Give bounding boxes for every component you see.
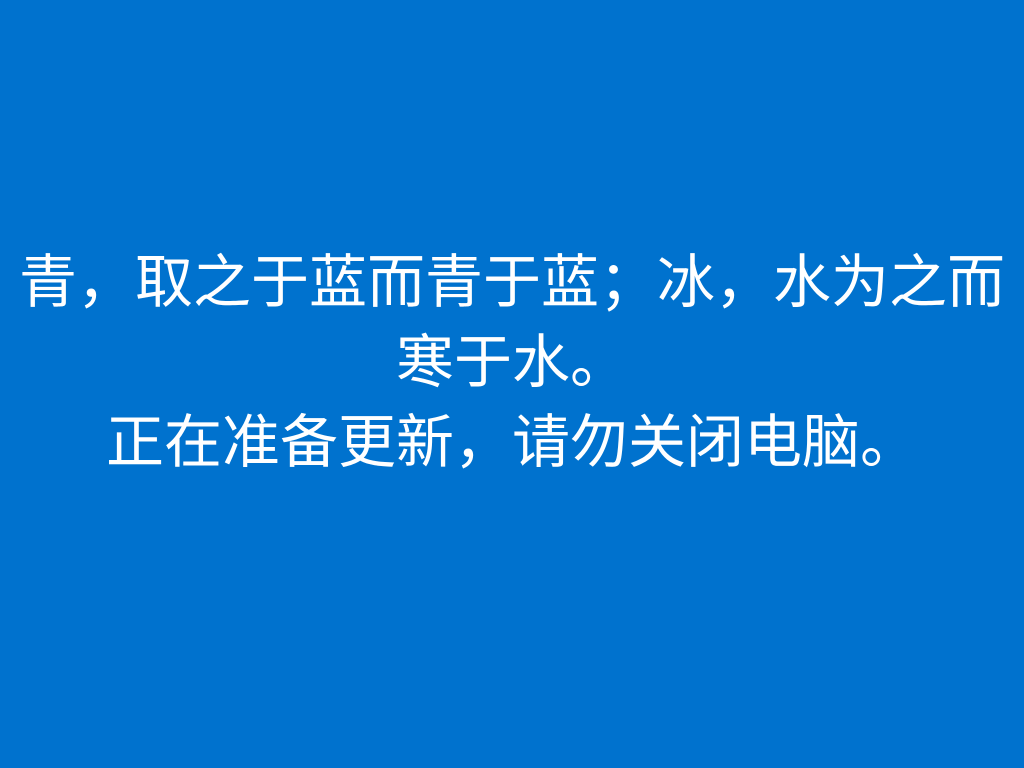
- update-message-block: 青，取之于蓝而青于蓝；冰，水为之而寒于水。 正在准备更新，请勿关闭电脑。: [0, 242, 1024, 482]
- update-status-text: 正在准备更新，请勿关闭电脑。: [0, 402, 1024, 482]
- update-screen: 青，取之于蓝而青于蓝；冰，水为之而寒于水。 正在准备更新，请勿关闭电脑。: [0, 0, 1024, 768]
- update-quote-text: 青，取之于蓝而青于蓝；冰，水为之而寒于水。: [0, 242, 1024, 402]
